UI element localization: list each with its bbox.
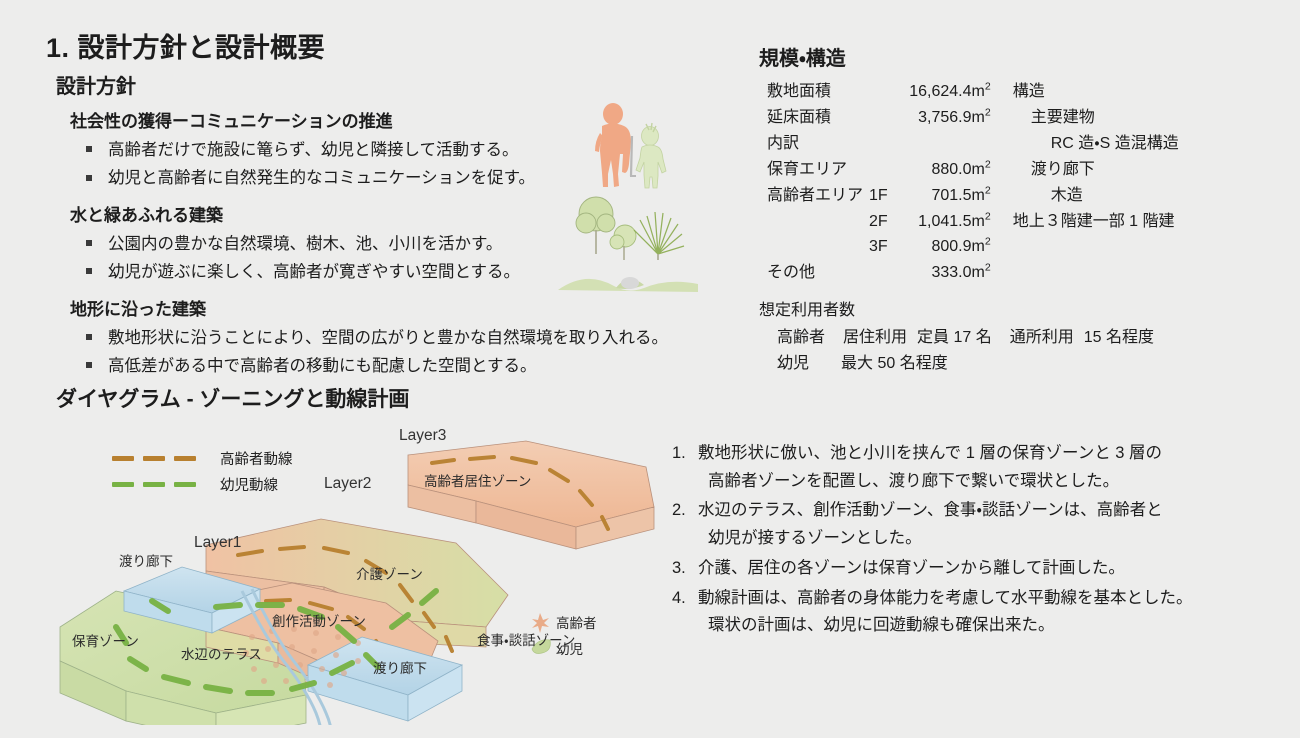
policy-bullet-list: 敷地形状に沿うことにより、空間の広がりと豊かな自然環境を取り入れる。 高低差があ… bbox=[56, 324, 756, 381]
users-elderly-row: 高齢者居住利用定員 17 名通所利用15 名程度 bbox=[755, 325, 1275, 352]
zone-label-elderly-living: 高齢者居住ゾーン bbox=[424, 470, 531, 490]
note-text: 水辺のテラス、創作活動ゾーン、食事・談話ゾーンは、高齢者と幼児が接するゾーンとし… bbox=[698, 497, 1282, 552]
slide-page: 1. 設計方針と設計概要 設計方針 社会性の獲得ーコミュニケーションの推進 高齢… bbox=[0, 0, 1300, 738]
zone-elderly-living bbox=[408, 441, 654, 549]
spec-floor bbox=[869, 157, 895, 183]
spec-floor: 2F bbox=[869, 209, 895, 235]
policy-group-terrain: 地形に沿った建築 敷地形状に沿うことにより、空間の広がりと豊かな自然環境を取り入… bbox=[56, 295, 756, 381]
spec-label: 敷地面積 bbox=[755, 79, 869, 105]
structure-main-label: 主要建物 bbox=[1013, 105, 1179, 131]
spec-value: 701.5m2 bbox=[895, 183, 991, 209]
zone-label-waterside: 水辺のテラス bbox=[181, 643, 262, 663]
note-number: 4. bbox=[672, 585, 698, 640]
zone-label-creative: 創作活動ゾーン bbox=[272, 610, 366, 630]
spec-label: 高齢者エリア bbox=[755, 183, 869, 209]
spec-label bbox=[755, 209, 869, 235]
layer1-caption: Layer1 bbox=[194, 534, 241, 552]
note-number: 1. bbox=[672, 440, 698, 495]
bullet-text: 敷地形状に沿うことにより、空間の広がりと豊かな自然環境を取り入れる。 bbox=[108, 329, 668, 347]
scale-structure-section: 規模・構造 敷地面積 16,624.4m2 延床面積 3,756.9m2 bbox=[755, 42, 1275, 378]
spec-table: 敷地面積 16,624.4m2 延床面積 3,756.9m2 内訳 bbox=[755, 79, 991, 286]
policy-heading: 設計方針 bbox=[56, 70, 756, 99]
table-row: 高齢者エリア 1F 701.5m2 bbox=[755, 183, 991, 209]
spec-value: 880.0m2 bbox=[895, 157, 991, 183]
note-text: 敷地形状に倣い、池と小川を挟んで 1 層の保育ゾーンと 3 層の高齢者ゾーンを配… bbox=[698, 440, 1282, 495]
users-child-row: 幼児最大 50 名程度 bbox=[755, 351, 1275, 378]
list-item: 敷地形状に沿うことにより、空間の広がりと豊かな自然環境を取り入れる。 bbox=[86, 324, 756, 352]
spec-floor bbox=[869, 79, 895, 105]
bullet-text: 高齢者だけで施設に篭らず、幼児と隣接して活動する。 bbox=[108, 141, 519, 159]
spec-heading: 規模・構造 bbox=[759, 42, 1275, 71]
layer3-caption: Layer3 bbox=[399, 427, 446, 445]
expected-users-block: 想定利用者数 高齢者居住利用定員 17 名通所利用15 名程度 幼児最大 50 … bbox=[755, 298, 1275, 378]
diagram-heading: ダイヤグラム - ゾーニングと動線計画 bbox=[56, 383, 409, 413]
user-legend-label-child: 幼児 bbox=[556, 638, 583, 658]
list-item: 高低差がある中で高齢者の移動にも配慮した空間とする。 bbox=[86, 352, 756, 380]
bullet-text: 高低差がある中で高齢者の移動にも配慮した空間とする。 bbox=[108, 357, 537, 375]
spec-label bbox=[755, 234, 869, 260]
structure-corridor-label: 渡り廊下 bbox=[1013, 157, 1179, 183]
bullet-text: 公園内の豊かな自然環境、樹木、池、小川を活かす。 bbox=[108, 235, 502, 253]
spec-floor: 1F bbox=[869, 183, 895, 209]
zone-label-corridor-left: 渡り廊下 bbox=[119, 550, 173, 570]
layer2-caption: Layer2 bbox=[324, 475, 371, 493]
users-elderly-resident-value: 定員 17 名 bbox=[917, 325, 992, 352]
note-text: 動線計画は、高齢者の身体能力を考慮して水平動線を基本とした。環状の計画は、幼児に… bbox=[698, 585, 1282, 640]
table-row: 保育エリア 880.0m2 bbox=[755, 157, 991, 183]
list-item: 3. 介護、居住の各ゾーンは保育ゾーンから離して計画した。 bbox=[672, 555, 1282, 583]
users-elderly-daycare-value: 15 名程度 bbox=[1084, 325, 1154, 352]
policy-group-heading: 地形に沿った建築 bbox=[70, 295, 756, 320]
spec-value: 16,624.4m2 bbox=[895, 79, 991, 105]
note-number: 3. bbox=[672, 555, 698, 583]
zone-label-corridor-right: 渡り廊下 bbox=[373, 657, 427, 677]
spec-floor: 3F bbox=[869, 234, 895, 260]
table-row: 延床面積 3,756.9m2 bbox=[755, 105, 991, 131]
spec-label: 延床面積 bbox=[755, 105, 869, 131]
elderly-and-child-illustration bbox=[586, 100, 682, 192]
bullet-text: 幼児が遊ぶに楽しく、高齢者が寛ぎやすい空間とする。 bbox=[108, 263, 520, 281]
structure-title: 構造 bbox=[1013, 79, 1179, 105]
note-text: 介護、居住の各ゾーンは保育ゾーンから離して計画した。 bbox=[698, 555, 1282, 583]
table-row: 3F 800.9m2 bbox=[755, 234, 991, 260]
spec-value: 800.9m2 bbox=[895, 234, 991, 260]
users-elderly-daycare-label: 通所利用 bbox=[1010, 325, 1074, 352]
bullet-square-icon bbox=[86, 240, 92, 246]
spec-label: 保育エリア bbox=[755, 157, 869, 183]
spec-label: 内訳 bbox=[755, 131, 869, 157]
list-item: 1. 敷地形状に倣い、池と小川を挟んで 1 層の保育ゾーンと 3 層の高齢者ゾー… bbox=[672, 440, 1282, 495]
table-row: 内訳 bbox=[755, 131, 991, 157]
users-elderly-label: 高齢者 bbox=[777, 325, 825, 352]
note-number: 2. bbox=[672, 497, 698, 552]
table-row: 2F 1,041.5m2 bbox=[755, 209, 991, 235]
spec-value: 3,756.9m2 bbox=[895, 105, 991, 131]
structure-main-value: RC 造・S 造混構造 bbox=[1013, 131, 1179, 157]
users-child-label: 幼児 bbox=[777, 351, 841, 378]
users-elderly-resident-label: 居住利用 bbox=[843, 325, 907, 352]
spec-label: その他 bbox=[755, 260, 869, 286]
hill-illustration bbox=[558, 258, 698, 292]
bullet-square-icon bbox=[86, 334, 92, 340]
table-row: その他 333.0m2 bbox=[755, 260, 991, 286]
spec-value: 333.0m2 bbox=[895, 260, 991, 286]
page-title: 1. 設計方針と設計概要 bbox=[46, 26, 325, 65]
diagram-notes-list: 1. 敷地形状に倣い、池と小川を挟んで 1 層の保育ゾーンと 3 層の高齢者ゾー… bbox=[672, 440, 1282, 642]
spec-floor bbox=[869, 260, 895, 286]
structure-stories: 地上３階建一部 1 階建 bbox=[1013, 209, 1179, 235]
user-legend-label-elderly: 高齢者 bbox=[556, 612, 597, 632]
spec-floor bbox=[869, 105, 895, 131]
bullet-text: 幼児と高齢者に自然発生的なコミュニケーションを促す。 bbox=[108, 169, 535, 187]
bullet-square-icon bbox=[86, 146, 92, 152]
bullet-square-icon bbox=[86, 268, 92, 274]
trees-illustration bbox=[566, 190, 690, 260]
bullet-square-icon bbox=[86, 175, 92, 181]
users-child-value: 最大 50 名程度 bbox=[841, 351, 948, 378]
zone-label-care: 介護ゾーン bbox=[356, 563, 423, 583]
table-row: 敷地面積 16,624.4m2 bbox=[755, 79, 991, 105]
users-title: 想定利用者数 bbox=[755, 298, 1275, 325]
bullet-square-icon bbox=[86, 362, 92, 368]
list-item: 2. 水辺のテラス、創作活動ゾーン、食事・談話ゾーンは、高齢者と幼児が接するゾー… bbox=[672, 497, 1282, 552]
structure-corridor-value: 木造 bbox=[1013, 183, 1179, 209]
zoning-diagram: 高齢者動線 幼児動線 bbox=[56, 415, 696, 725]
list-item: 4. 動線計画は、高齢者の身体能力を考慮して水平動線を基本とした。環状の計画は、… bbox=[672, 585, 1282, 640]
spec-value: 1,041.5m2 bbox=[895, 209, 991, 235]
structure-block: 構造 主要建物 RC 造・S 造混構造 渡り廊下 木造 地上３階建一部 1 階建 bbox=[1013, 79, 1179, 234]
zone-label-nursery: 保育ゾーン bbox=[72, 630, 139, 650]
